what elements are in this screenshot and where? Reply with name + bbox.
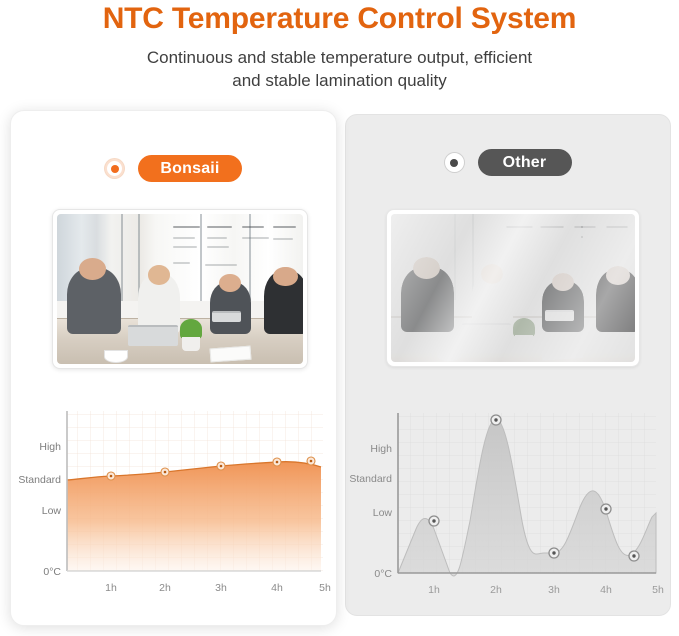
whiteboard-text [173,262,190,264]
whiteboard-text [173,226,200,228]
chart-xtick-5h: 5h [652,584,664,596]
whiteboard-text [207,246,229,248]
page-title: NTC Temperature Control System [0,0,679,37]
laptop-icon [462,323,511,344]
chart-ytick-zero: 0°C [374,568,392,580]
chart-xtick-2h: 2h [490,584,502,596]
whiteboard-text [537,263,569,265]
window-mullion-icon [121,214,123,301]
panel-bonsaii-label[interactable]: Bonsaii [138,155,241,182]
whiteboard-text [606,226,628,228]
whiteboard-text [540,226,564,228]
chart-ytick-zero: 0°C [43,566,61,578]
laptop-icon [128,325,177,347]
coffee-cup-icon [104,350,128,363]
paper-document [209,346,251,363]
person-head [148,265,170,285]
data-point-dot [310,460,313,463]
person-head [413,257,440,279]
panel-bonsaii-header: Bonsaii [11,155,336,182]
chart-ytick-low: Low [42,505,62,517]
whiteboard-text [574,236,601,238]
window-mullion-icon [454,214,456,300]
coffee-cup-icon [437,348,461,360]
chart-bonsaii: High Standard Low 0°C 1h 2h 3h 4h 5h [25,401,325,601]
chart-xtick-3h: 3h [215,582,227,594]
whiteboard-text [207,226,232,228]
whiteboard-text [173,237,195,239]
window-mullion-icon [533,214,535,300]
chart-ytick-high: High [39,441,61,453]
subtitle-line-1: Continuous and stable temperature output… [0,46,679,69]
whiteboard-text [540,245,562,247]
data-point-dot [276,461,279,464]
window-mullion-icon [200,214,202,301]
chart-ytick-standard: Standard [349,473,392,485]
panel-other[interactable]: Other [345,114,671,616]
radio-dot [111,165,119,173]
subtitle-line-2: and stable lamination quality [0,69,679,92]
chart-ytick-low: Low [373,507,393,519]
whiteboard-text [506,226,533,228]
business-meeting-photo-faded [391,214,635,362]
whiteboard-text [574,226,596,228]
whiteboard-text [540,236,560,238]
panel-other-label[interactable]: Other [478,149,572,176]
person-head [273,267,298,287]
laptop-icon [212,311,242,322]
chart-other: High Standard Low 0°C 1h 2h 3h 4h 5h [358,403,660,603]
data-point-dot [604,507,607,510]
plant-pot-icon [182,337,199,351]
whiteboard-text [242,237,269,239]
plant-icon [180,319,202,339]
chart-xtick-4h: 4h [600,584,612,596]
whiteboard-text [273,226,295,228]
person-head [606,266,630,285]
chart-xtick-1h: 1h [428,584,440,596]
radio-dot [450,159,458,167]
chart-other-svg: High Standard Low 0°C 1h 2h 3h 4h 5h [358,403,660,603]
whiteboard-text [207,237,227,239]
chart-ytick-standard: Standard [18,474,61,486]
person-head [79,258,106,281]
meeting-room-scene [391,214,635,362]
person-head [552,273,574,291]
chart-ytick-high: High [370,443,392,455]
chart-xtick-4h: 4h [271,582,283,594]
whiteboard-text [273,238,293,240]
whiteboard-text [606,238,626,240]
panel-other-header: Other [346,149,670,176]
plant-pot-icon [515,335,532,348]
chart-xtick-3h: 3h [548,584,560,596]
data-point-dot [220,465,223,468]
data-point-dot [432,519,435,522]
whiteboard-text [506,236,528,238]
meeting-room-scene [57,214,303,364]
data-point-dot [552,551,555,554]
chart-xtick-2h: 2h [159,582,171,594]
data-point-dot [494,418,497,421]
laptop-icon [545,310,574,321]
panel-other-photo-frame [386,209,640,367]
panel-bonsaii-photo-frame [52,209,308,369]
radio-unselected-icon[interactable] [445,153,464,172]
chart-bonsaii-area [67,462,321,571]
whiteboard-text [242,226,264,228]
business-meeting-photo [57,214,303,364]
page-subtitle: Continuous and stable temperature output… [0,37,679,93]
whiteboard-text [173,246,198,248]
page-header: NTC Temperature Control System Continuou… [0,0,679,92]
chart-bonsaii-svg: High Standard Low 0°C 1h 2h 3h 4h 5h [25,401,325,601]
data-point-dot [164,471,167,474]
data-point-dot [632,554,635,557]
chart-xtick-1h: 1h [105,582,117,594]
data-point-dot [110,475,113,478]
person-head [481,264,503,283]
radio-selected-icon[interactable] [105,159,124,178]
chart-xtick-5h: 5h [319,582,331,594]
plant-icon [513,318,535,337]
panel-bonsaii[interactable]: Bonsaii [10,110,337,626]
whiteboard-text [506,245,530,247]
whiteboard-text [205,264,237,266]
